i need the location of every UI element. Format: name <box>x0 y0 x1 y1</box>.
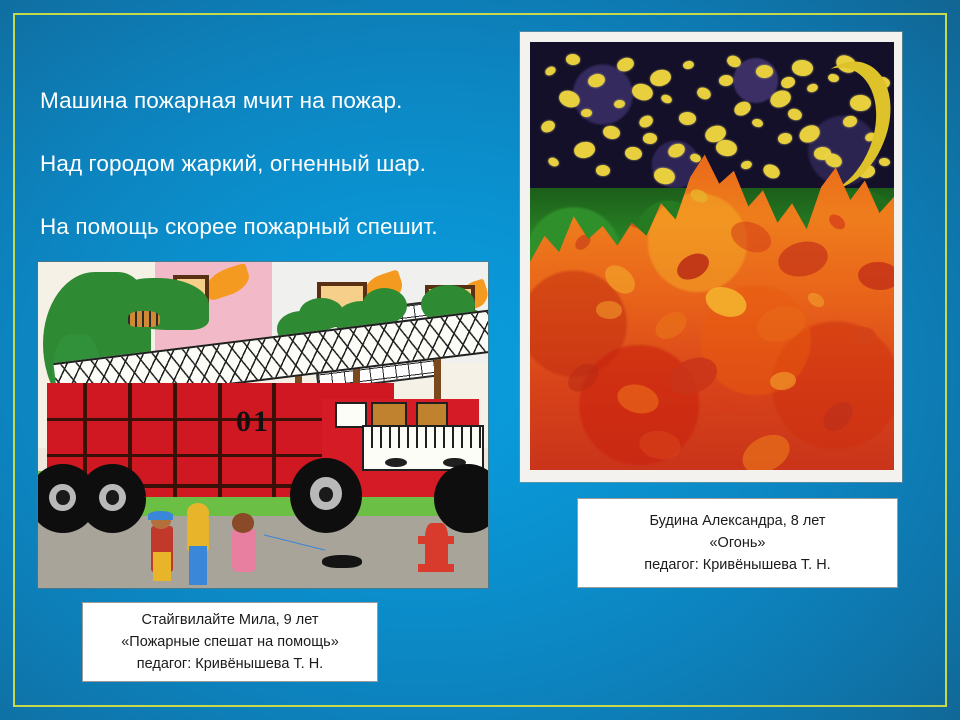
poem-line-1: Машина пожарная мчит на пожар. <box>40 85 510 117</box>
star-icon <box>666 141 687 160</box>
flame-ember <box>615 381 663 419</box>
flame-ember <box>637 428 683 463</box>
woman-head <box>187 503 210 523</box>
star-icon <box>696 85 713 101</box>
flame-ember <box>850 326 877 344</box>
wheel-hub-center <box>106 490 120 505</box>
painting-canvas <box>530 42 894 470</box>
artwork-fire-truck-drawing[interactable]: 01 <box>38 262 488 588</box>
star-icon <box>624 146 643 161</box>
flame-ember <box>857 260 894 291</box>
caption-teacher-line: педагог: Кривёнышева Т. Н. <box>644 554 830 576</box>
flame-ember <box>752 300 810 348</box>
flame-ember <box>726 215 776 258</box>
artwork-fire-painting[interactable] <box>520 32 902 482</box>
star-icon <box>616 55 637 73</box>
caption-teacher-line: педагог: Кривёнышева Т. Н. <box>137 653 323 675</box>
flame-ember <box>717 395 739 415</box>
star-icon <box>732 98 754 118</box>
cat-icon <box>128 311 160 327</box>
flame-ember <box>599 260 640 300</box>
caption-author-line: Стайгвилайте Мила, 9 лет <box>142 609 319 631</box>
flame-ember <box>563 358 604 397</box>
star-icon <box>643 133 657 144</box>
truck-body-line <box>218 383 222 497</box>
fire-hydrant-icon <box>425 523 448 569</box>
wheel-hub-center <box>319 487 333 502</box>
star-icon <box>539 118 556 134</box>
poem-line-3: На помощь скорее пожарный спешит. <box>40 211 510 243</box>
star-icon <box>751 118 764 129</box>
flame-ember <box>664 351 723 402</box>
star-icon <box>761 161 783 181</box>
star-icon <box>557 88 582 110</box>
star-icon <box>725 54 742 69</box>
wheel-hub-center <box>56 490 70 505</box>
flame-ember <box>818 396 859 436</box>
truck-body-line <box>272 383 276 497</box>
tree-foliage <box>362 288 407 324</box>
flame-ember <box>595 300 622 319</box>
caption-author-line: Будина Александра, 8 лет <box>649 510 825 532</box>
girl-head <box>232 513 255 533</box>
flame-ember <box>650 306 691 344</box>
presentation-slide: Машина пожарная мчит на пожар. Над город… <box>0 0 960 720</box>
caption-title-line: «Огонь» <box>709 532 765 554</box>
star-icon <box>756 65 773 78</box>
child-legs <box>153 552 171 581</box>
flame-ember <box>769 371 797 392</box>
star-icon <box>613 99 625 108</box>
star-icon <box>791 59 813 76</box>
caption-fire-truck-drawing: Стайгвилайте Мила, 9 лет «Пожарные спеша… <box>82 602 378 682</box>
girl-figure <box>232 529 257 571</box>
flame-ember <box>827 212 849 233</box>
dog-icon <box>322 555 363 568</box>
star-icon <box>638 113 656 129</box>
star-icon <box>547 156 560 168</box>
flame-ember <box>701 282 750 323</box>
star-icon <box>581 108 592 117</box>
star-icon <box>715 139 738 158</box>
star-icon <box>587 71 607 88</box>
caption-title-line: «Пожарные спешат на помощь» <box>121 631 339 653</box>
star-icon <box>566 53 581 65</box>
cab-grill <box>362 425 484 448</box>
star-icon <box>630 81 654 102</box>
flame-ember <box>688 187 710 206</box>
poem-line-2: Над городом жаркий, огненный шар. <box>40 148 510 180</box>
cap-icon <box>148 511 173 519</box>
star-icon <box>740 160 753 171</box>
star-icon <box>648 68 672 88</box>
star-icon <box>660 93 673 105</box>
star-icon <box>602 125 622 141</box>
flame-ember <box>672 248 713 285</box>
star-icon <box>595 164 610 175</box>
star-icon <box>679 112 697 126</box>
hydrant-base <box>418 564 454 572</box>
truck-number-label: 01 <box>236 405 270 439</box>
flame-ember <box>774 237 831 281</box>
star-icon <box>543 64 557 77</box>
star-icon <box>777 132 793 145</box>
star-icon <box>719 75 734 87</box>
star-icon <box>652 166 676 186</box>
star-icon <box>780 75 797 89</box>
caption-fire-painting: Будина Александра, 8 лет «Огонь» педагог… <box>577 498 898 588</box>
star-icon <box>768 88 793 110</box>
star-icon <box>879 157 891 166</box>
flame-ember <box>736 428 796 470</box>
flame-ember <box>805 290 827 310</box>
star-icon <box>572 140 595 159</box>
woman-legs <box>189 546 207 585</box>
truck-body-line <box>173 383 177 497</box>
star-icon <box>682 60 694 70</box>
